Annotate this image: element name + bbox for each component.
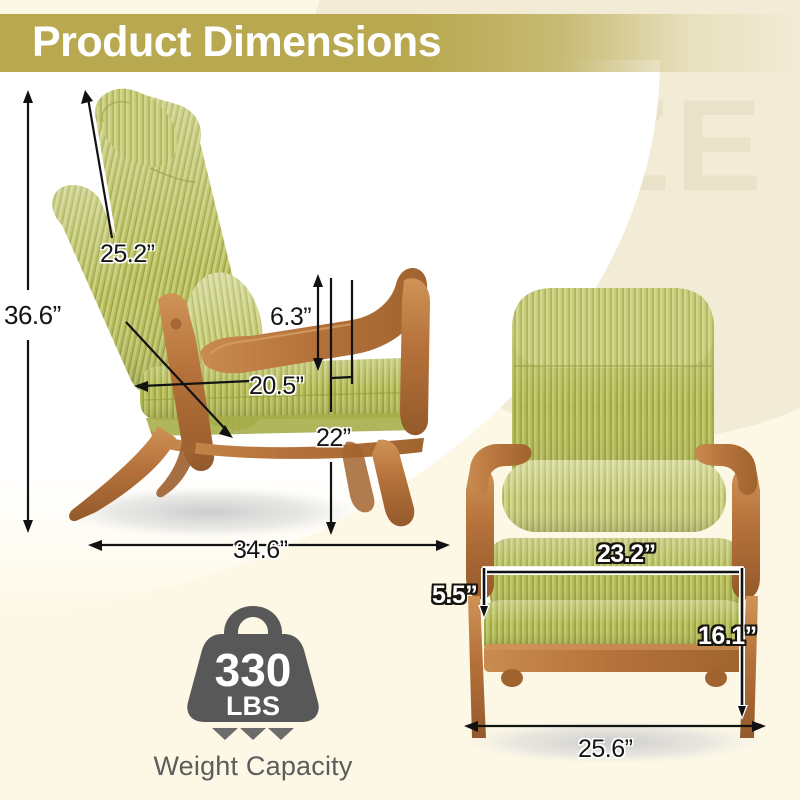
dim-label-seat-width: 23.2” — [597, 540, 656, 569]
dim-label-overall-width: 25.6” — [578, 735, 632, 764]
weight-amount: 330 — [215, 644, 292, 696]
dim-label-backrest-length: 25.2” — [100, 240, 154, 269]
page-title: Product Dimensions — [32, 14, 441, 72]
dim-label-overall-depth: 34.6” — [233, 536, 287, 565]
dim-label-seat-depth: 20.5” — [249, 372, 303, 401]
dim-label-back-height: 22” — [316, 424, 351, 453]
infographic-canvas: SIZE Product Dimensions — [0, 0, 800, 800]
weight-capacity-caption: Weight Capacity — [118, 751, 388, 782]
dim-label-cushion-thickness: 5.5” — [432, 581, 477, 610]
weight-arrow-2 — [240, 728, 266, 740]
weight-arrow-1 — [212, 728, 238, 740]
dim-label-overall-height: 36.6” — [4, 300, 61, 331]
weight-unit: LBS — [226, 691, 280, 721]
dim-label-seat-height: 16.1” — [698, 622, 757, 651]
weight-capacity-block: 330 LBS Weight Capacity — [118, 600, 388, 782]
weight-arrow-3 — [268, 728, 294, 740]
dim-label-arm-height: 6.3” — [270, 303, 311, 332]
weight-icon: 330 LBS — [118, 600, 388, 740]
